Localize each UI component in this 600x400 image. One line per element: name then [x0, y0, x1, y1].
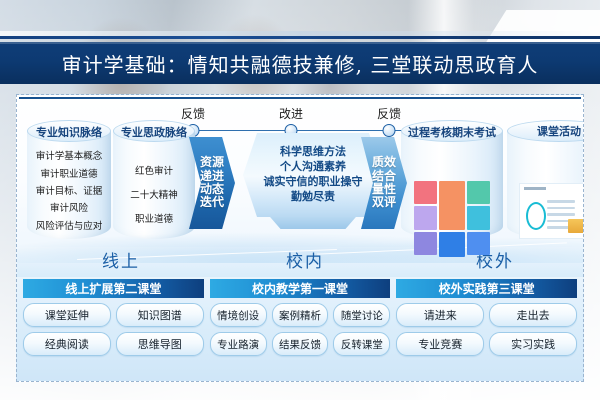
activity-card-header [524, 187, 546, 190]
chip-item[interactable]: 走出去 [489, 303, 577, 327]
rail-label-1: 改进 [279, 105, 303, 122]
chip-item[interactable]: 反转课堂 [333, 332, 390, 356]
top-rule [0, 36, 600, 39]
cylinder-items: 红色审计 二十大精神 职业道德 [113, 153, 195, 235]
tile [414, 181, 437, 204]
cylinder-professional-knowledge: 专业知识脉络 审计学基本概念 审计职业道德 审计目标、证据 审计风险 风险评估与… [27, 131, 111, 239]
tile [467, 232, 490, 255]
chip-row: 专业路演 结果反馈 反转课堂 [210, 332, 391, 356]
chip-item[interactable]: 知识图谱 [116, 303, 204, 327]
row [547, 213, 575, 216]
cylinder-item: 红色审计 [135, 163, 173, 177]
panel-top-line [19, 97, 581, 99]
cylinder-title: 课堂活动 [507, 120, 584, 144]
tile [467, 206, 490, 229]
cylinder-item: 审计风险 [50, 200, 88, 214]
tile [467, 181, 490, 204]
chip-item[interactable]: 经典阅读 [23, 332, 111, 356]
cylinder-item: 审计目标、证据 [36, 183, 103, 197]
center-card-line: 勤勉尽责 [291, 190, 335, 205]
center-competency-card: 科学思维方法 个人沟通素养 诚实守信的职业操守 勤勉尽责 [243, 133, 383, 217]
tile [439, 181, 465, 230]
cylinder-items: 审计学基本概念 审计职业道德 审计目标、证据 审计风险 风险评估与应对 [27, 145, 111, 235]
activity-ring-icon [526, 202, 546, 230]
chevron-resource-iteration: 资源递进动态迭代 [189, 137, 235, 229]
title-banner: 审计学基础：情知共融德技兼修, 三堂联动思政育人 [0, 42, 600, 84]
cylinder-item: 审计学基本概念 [36, 148, 103, 162]
cylinder-title: 专业知识脉络 [27, 118, 111, 148]
cylinder-item: 二十大精神 [130, 187, 178, 201]
chip-item[interactable]: 案例精析 [272, 303, 329, 327]
chip-row: 专业竞赛 实习实践 [396, 332, 577, 356]
podium-icon [568, 219, 584, 233]
group-header: 校外实践第三课堂 [396, 279, 577, 298]
cylinder-title: 专业思政脉络 [113, 118, 195, 148]
section-captions: 线上 校内 校外 [17, 247, 583, 271]
content-panel: 反馈 改进 反馈 专业知识脉络 审计学基本概念 审计职业道德 审计目标、证据 审… [16, 94, 584, 382]
cylinder-item: 职业道德 [135, 211, 173, 225]
center-card-line: 科学思维方法 [280, 145, 346, 160]
tile [414, 232, 437, 255]
section-caption-online: 线上 [102, 247, 140, 272]
center-card-line: 个人沟通素养 [280, 160, 346, 175]
chip-item[interactable]: 请进来 [396, 303, 484, 327]
slide-canvas: 审计学基础：情知共融德技兼修, 三堂联动思政育人 反馈 改进 反馈 专业知识脉络… [0, 0, 600, 400]
page-title: 审计学基础：情知共融德技兼修, 三堂联动思政育人 [62, 49, 539, 78]
cylinder-ideological-political: 专业思政脉络 红色审计 二十大精神 职业道德 [113, 131, 195, 239]
podium-person-icon [520, 208, 525, 219]
cylinder-exam-assessment: 过程考核期末考试 [401, 131, 503, 239]
tile [414, 206, 437, 229]
center-card-line: 诚实守信的职业操守 [264, 175, 363, 190]
classroom-groups: 线上扩展第二课堂 课堂延伸 知识图谱 经典阅读 思维导图 校内教学第一课堂 情境… [23, 279, 577, 375]
chip-item[interactable]: 思维导图 [116, 332, 204, 356]
chip-item[interactable]: 实习实践 [489, 332, 577, 356]
rail-label-2: 反馈 [377, 105, 401, 122]
chip-item[interactable]: 课堂延伸 [23, 303, 111, 327]
section-caption-oncampus: 校内 [286, 247, 324, 272]
cylinder-item: 风险评估与应对 [36, 218, 103, 232]
tile [439, 232, 465, 257]
chip-row: 课堂延伸 知识图谱 [23, 303, 204, 327]
exam-tile-grid [414, 181, 490, 257]
row [547, 207, 575, 210]
chip-item[interactable]: 结果反馈 [272, 332, 329, 356]
chip-item[interactable]: 专业竞赛 [396, 332, 484, 356]
activity-screenshot-card [519, 183, 584, 239]
cylinder-title: 过程考核期末考试 [401, 118, 503, 148]
chip-item[interactable]: 专业路演 [210, 332, 267, 356]
group-offcampus: 校外实践第三课堂 请进来 走出去 专业竞赛 实习实践 [396, 279, 577, 375]
cylinder-class-activity: 课堂活动 [507, 131, 584, 239]
group-header: 校内教学第一课堂 [210, 279, 391, 298]
rail-node-2 [383, 124, 396, 137]
group-oncampus: 校内教学第一课堂 情境创设 案例精析 随堂讨论 专业路演 结果反馈 反转课堂 [210, 279, 391, 375]
group-header: 线上扩展第二课堂 [23, 279, 204, 298]
chip-item[interactable]: 情境创设 [210, 303, 267, 327]
cylinder-item: 审计职业道德 [40, 166, 97, 180]
chip-row: 经典阅读 思维导图 [23, 332, 204, 356]
chip-row: 请进来 走出去 [396, 303, 577, 327]
group-online: 线上扩展第二课堂 课堂延伸 知识图谱 经典阅读 思维导图 [23, 279, 204, 375]
banner-highlight [0, 42, 600, 44]
row [547, 200, 575, 203]
chip-row: 情境创设 案例精析 随堂讨论 [210, 303, 391, 327]
chip-item[interactable]: 随堂讨论 [333, 303, 390, 327]
